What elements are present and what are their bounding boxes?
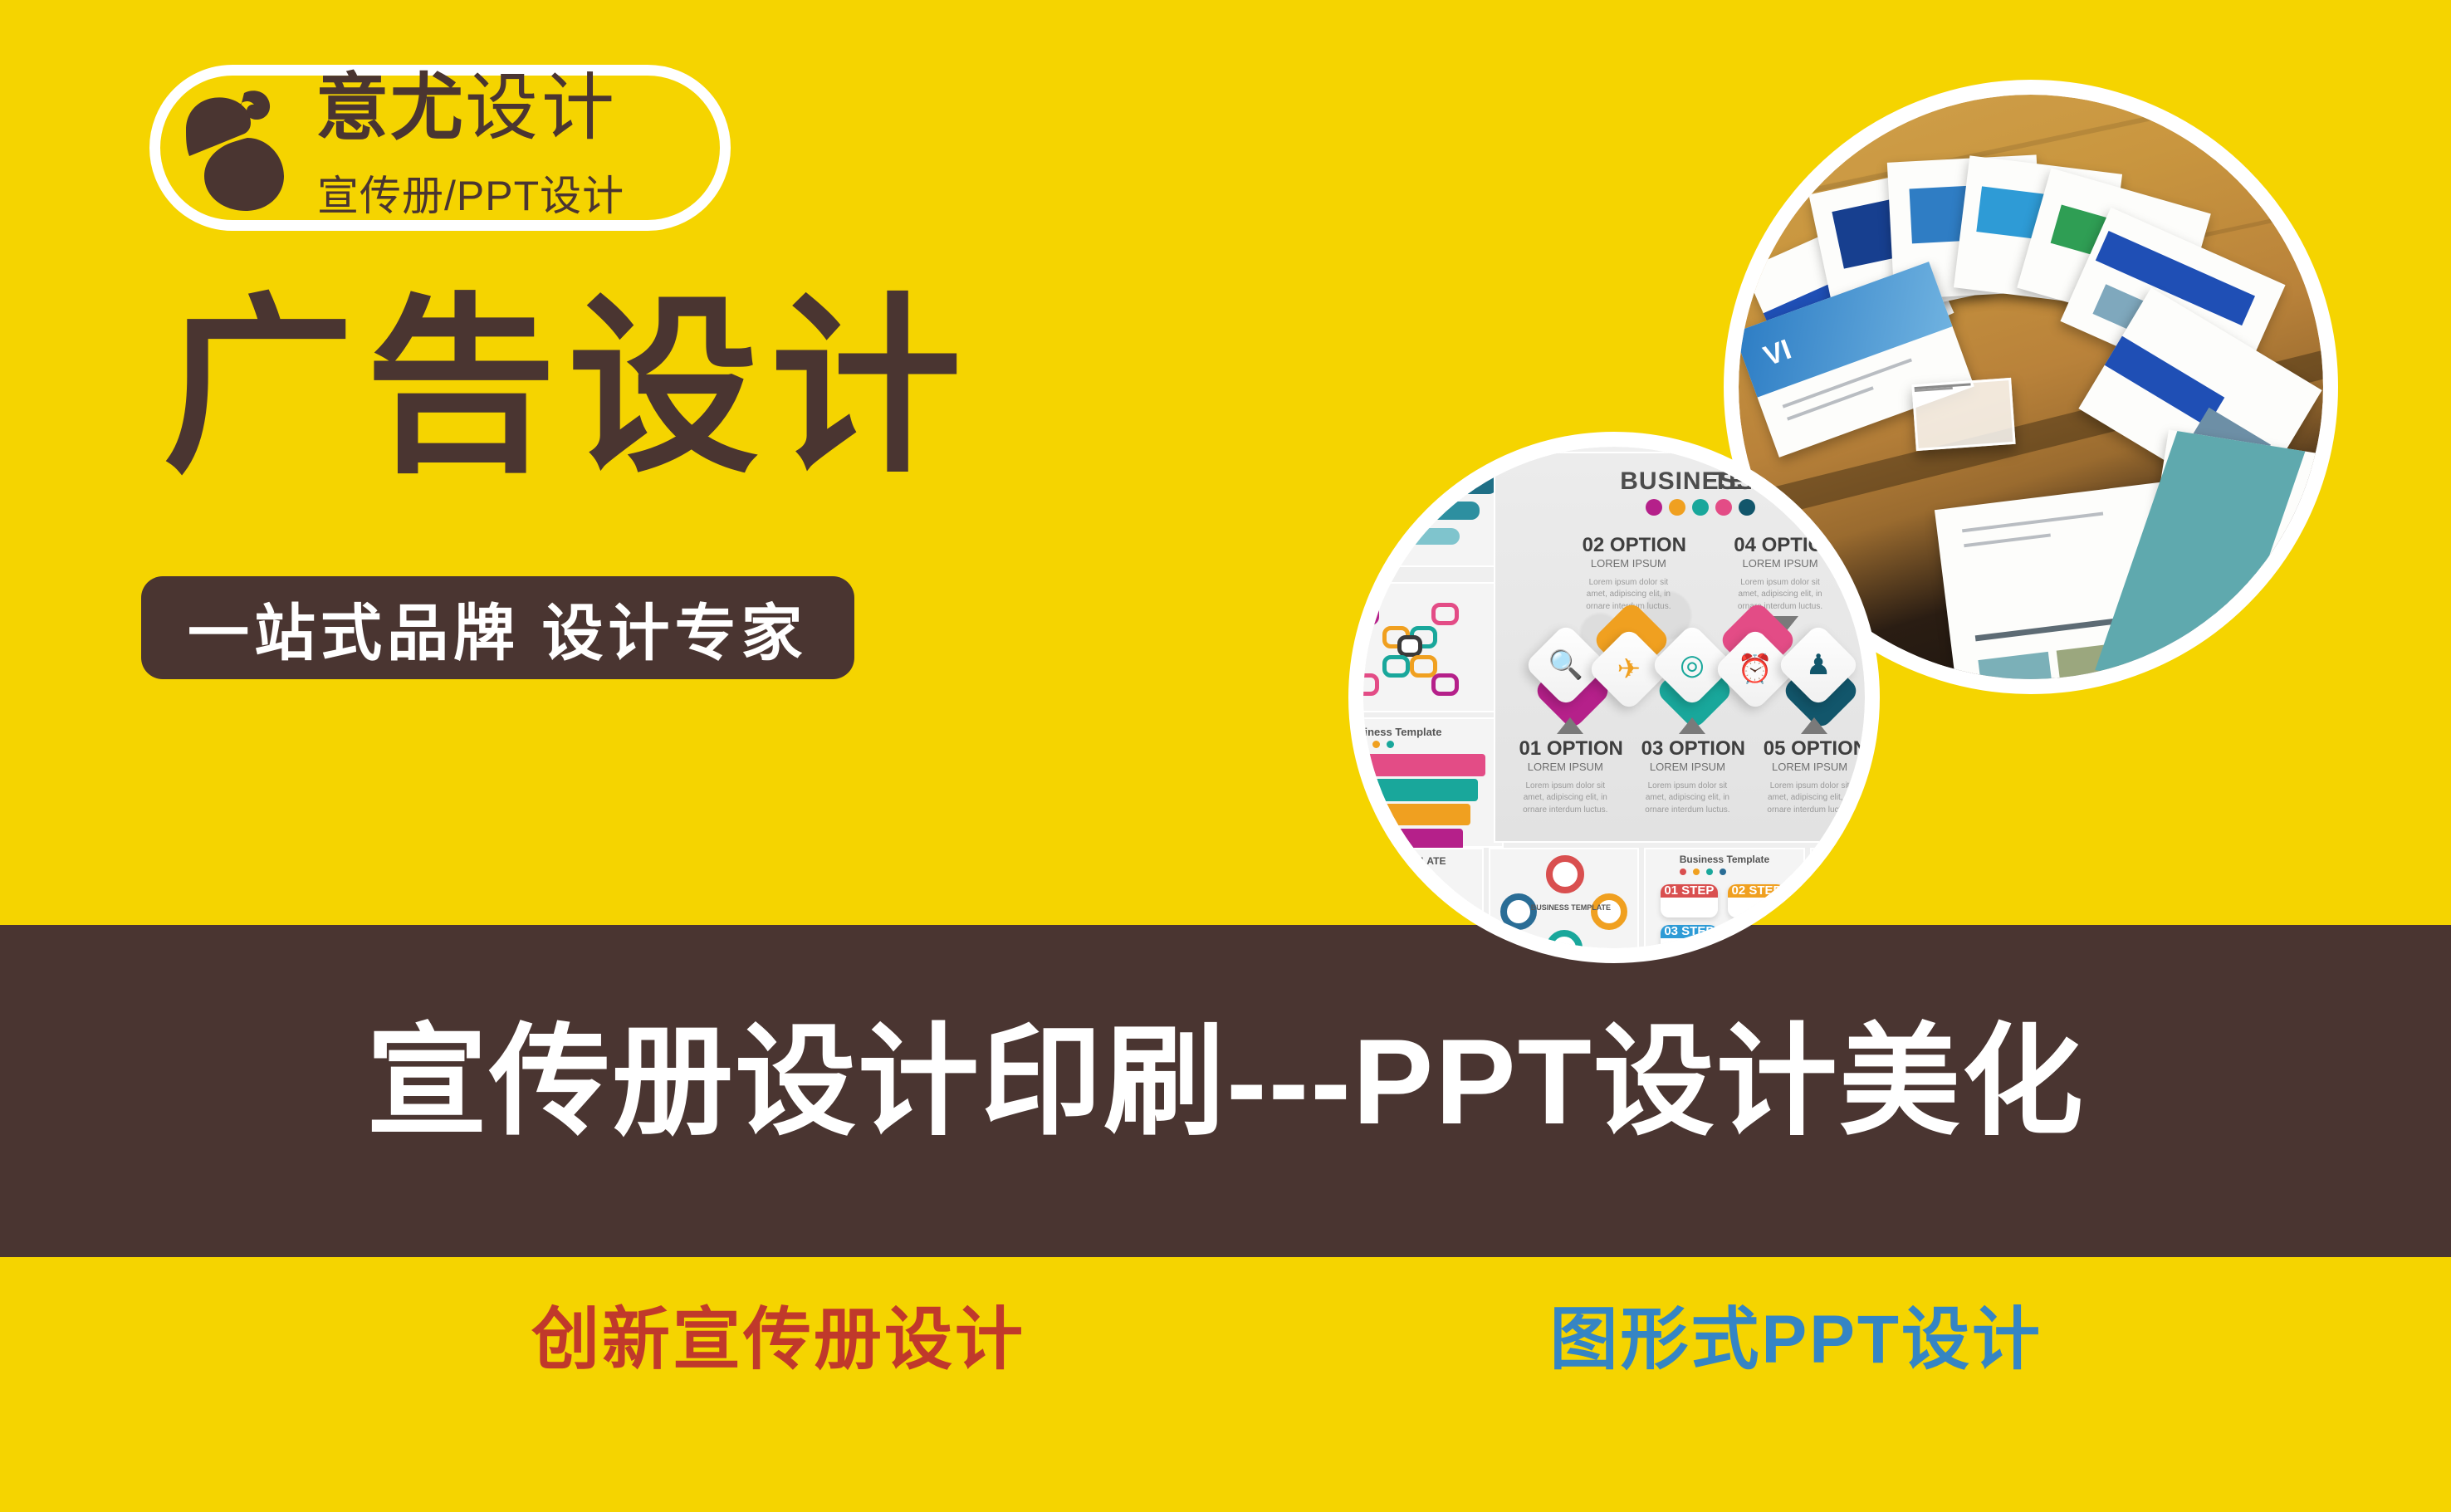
tagline-ppt: 图形式PPT设计 xyxy=(1550,1284,2042,1382)
ppt-option-sub: LOREM IPSUM xyxy=(1764,761,1857,773)
wheel-node xyxy=(1500,893,1537,930)
wheel-node xyxy=(1591,893,1627,930)
acrylic-card-holder xyxy=(1912,378,2016,451)
far-right-slide-title: Business xyxy=(1827,855,1865,867)
ppt-option-label: 02 OPTION xyxy=(1583,534,1676,557)
ppt-option-label: 04 OPTION xyxy=(1734,534,1827,557)
step-tab: 03 STEP xyxy=(1661,925,1719,938)
ppt-mini-slide-ribbons xyxy=(1363,447,1504,567)
ppt-option-label: 01 OPTION xyxy=(1519,737,1612,761)
wheel-center-label: BUSINESS TEMPLATE xyxy=(1531,903,1611,912)
ppt-slide-title-word2: TEMPLATE xyxy=(1713,467,1852,496)
ppt-option-body: Lorem ipsum dolor sit amet, adipiscing e… xyxy=(1729,577,1831,614)
ppt-mini-slide-steps: Business Template 01 STEP 02 STEP 03 STE… xyxy=(1644,848,1804,948)
subtitle-pill: 一站式品牌 设计专家 xyxy=(141,576,854,679)
ppt-option-body: Lorem ipsum dolor sit amet, adipiscing e… xyxy=(1637,780,1739,817)
ppt-option-sub: LOREM IPSUM xyxy=(1641,761,1734,773)
ppt-palette-dots xyxy=(1646,499,1755,516)
ppt-mini-slide-funnel: Business Template xyxy=(1363,717,1504,848)
step-tab: 01 STEP xyxy=(1661,884,1719,898)
yiyou-bird-mark-icon xyxy=(168,76,311,219)
bottom-left-slide-title: BUSINESS TEMPLATE xyxy=(1363,855,1446,867)
bottom-left-slide-option: 04 OPTION xyxy=(1381,887,1441,900)
promo-banner: 意尤设计 宣传册/PPT设计 广告设计 一站式品牌 设计专家 宣传册设计印刷--… xyxy=(0,0,2451,1512)
logo-brand-light: 设计 xyxy=(465,66,618,149)
tagline-brochure: 创新宣传册设计 xyxy=(531,1284,1025,1382)
brand-logo[interactable]: 意尤设计 宣传册/PPT设计 xyxy=(149,65,731,231)
funnel-slide-title: Business Template xyxy=(1363,726,1441,738)
logo-subline: 宣传册/PPT设计 xyxy=(317,163,624,223)
step-tab: 04 STEP xyxy=(1728,925,1786,938)
tagline-row: 创新宣传册设计 图形式PPT设计 xyxy=(531,1284,2042,1382)
target-icon: ◎ xyxy=(1662,635,1722,695)
ppt-option-body: Lorem ipsum dolor sit amet, adipiscing e… xyxy=(1514,780,1616,817)
search-icon: 🔍 xyxy=(1536,635,1596,695)
ppt-mini-slide-bottom-left: BUSINESS TEMPLATE 04 OPTION xyxy=(1363,848,1484,948)
photo-ppt-inner: Business Template BUSINESS TEMPLATE xyxy=(1363,447,1865,948)
wheel-node xyxy=(1546,930,1583,948)
wheel-node xyxy=(1546,855,1584,893)
page-title: 广告设计 xyxy=(163,292,973,483)
pointer-up-icon xyxy=(1557,717,1583,734)
subtitle-text: 一站式品牌 设计专家 xyxy=(188,584,808,673)
step-tab: 02 STEP xyxy=(1728,884,1786,898)
people-icon: ♟ xyxy=(1788,635,1848,695)
steps-slide-title: Business Template xyxy=(1680,854,1769,865)
pointer-up-icon xyxy=(1679,717,1705,734)
service-band-text: 宣传册设计印刷---PPT设计美化 xyxy=(0,984,2451,1159)
logo-wordmark: 意尤设计 宣传册/PPT设计 xyxy=(316,70,731,228)
ppt-main-slide: BUSINESS TEMPLATE 02 OPTION LOREM IPSUM … xyxy=(1494,452,1865,843)
logo-brand-bold: 意尤 xyxy=(316,66,465,149)
clock-icon: ⏰ xyxy=(1725,639,1785,699)
ppt-option-sub: LOREM IPSUM xyxy=(1583,557,1676,570)
ppt-option-body: Lorem ipsum dolor sit amet, adipiscing e… xyxy=(1759,780,1861,817)
ppt-option-label: 05 OPTION xyxy=(1764,737,1857,761)
ppt-option-label: 03 OPTION xyxy=(1641,737,1734,761)
ppt-mini-slide-wheel: BUSINESS TEMPLATE xyxy=(1489,848,1639,948)
pointer-up-icon xyxy=(1801,717,1827,734)
ppt-option-sub: LOREM IPSUM xyxy=(1734,557,1827,570)
ppt-mini-slide-matrix xyxy=(1363,582,1504,712)
ppt-option-sub: LOREM IPSUM xyxy=(1519,761,1612,773)
logo-brand-row: 意尤设计 xyxy=(316,71,618,144)
ppt-mini-slide-far-right: Business 06 xyxy=(1810,848,1865,948)
rocket-icon: ✈ xyxy=(1599,639,1659,699)
far-right-slide-option: 06 xyxy=(1858,884,1865,899)
photo-ppt-templates: Business Template BUSINESS TEMPLATE xyxy=(1348,432,1880,963)
